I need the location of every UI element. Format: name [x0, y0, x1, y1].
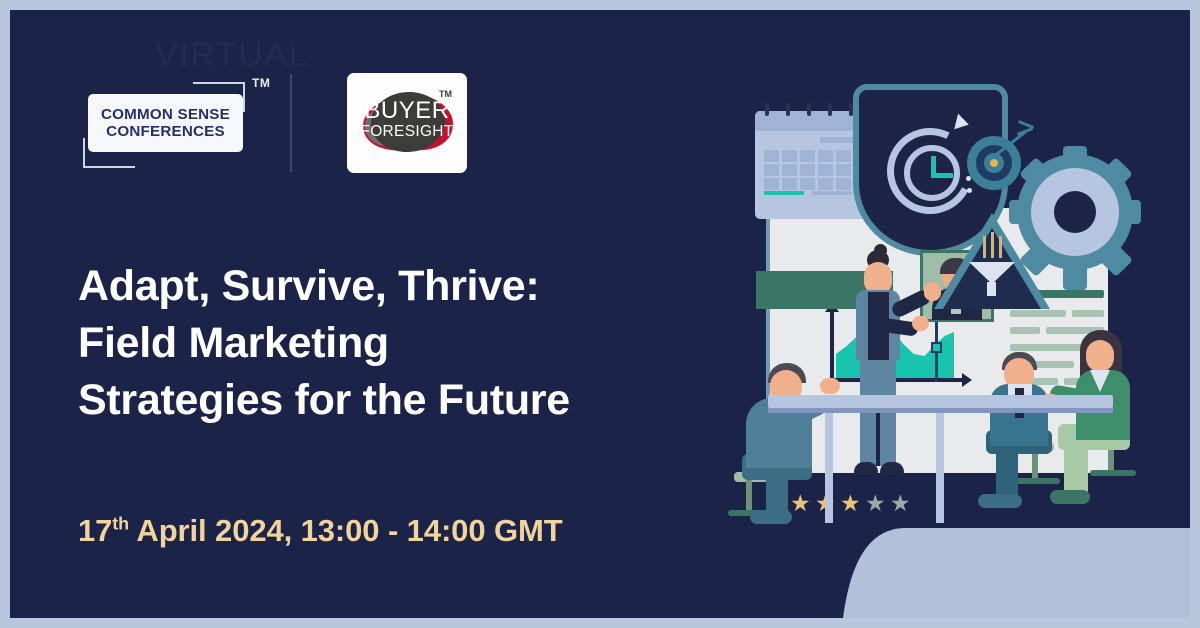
banner-stage: COMMON SENSE CONFERENCES TM BUYER FORESI… [10, 10, 1190, 618]
headline-line-3: Strategies for the Future [78, 372, 718, 429]
calendar-cell [800, 164, 815, 176]
clock-ring-dot [967, 188, 972, 193]
logo-word-foresight: FORESIGHT [347, 124, 467, 140]
event-day-ordinal: th [112, 514, 129, 534]
presenter-shoe-right [880, 462, 904, 475]
presenter-shoe-left [854, 462, 878, 475]
event-datetime-rest: April 2024, 13:00 - 14:00 GMT [129, 513, 562, 548]
chart-y-axis [830, 310, 834, 382]
calendar-cell [782, 164, 797, 176]
webinar-banner: COMMON SENSE CONFERENCES TM BUYER FORESI… [0, 0, 1200, 628]
calendar-cell [764, 164, 779, 176]
gear-center-hole [1054, 191, 1096, 233]
document-line [1072, 310, 1104, 317]
logo-wordmark: BUYER FORESIGHT [347, 99, 467, 140]
chart-x-axis-arrow [962, 373, 972, 387]
logo-word-buyer: BUYER [347, 99, 467, 123]
calendar-cell [836, 178, 851, 190]
page-title: Adapt, Survive, Thrive: Field Marketing … [78, 258, 718, 428]
funnel-stem [987, 282, 996, 296]
buyer-foresight-logo[interactable]: BUYER FORESIGHT TM [347, 73, 467, 173]
chair-stem-left [746, 478, 752, 514]
logo-line-1: COMMON SENSE [101, 106, 230, 123]
calendar-ring [786, 103, 790, 116]
calendar-ring [765, 103, 769, 116]
calendar-cell [836, 150, 851, 162]
conference-table [768, 395, 1113, 408]
calendar-ring [828, 103, 832, 116]
presenter-hand-lower [912, 316, 929, 331]
calendar-cell [782, 150, 797, 162]
document-line [1010, 310, 1066, 317]
status-badge [843, 528, 1190, 618]
status-badge-label: VIRTUAL [155, 10, 309, 100]
trademark-symbol-secondary: TM [439, 89, 452, 99]
calendar-cell [818, 150, 833, 162]
calendar-cell [800, 178, 815, 190]
table-edge [768, 408, 1113, 413]
table-leg-left [825, 413, 833, 523]
clock-hand-minute [931, 173, 953, 178]
calendar-cell [800, 150, 815, 162]
headline-line-1: Adapt, Survive, Thrive: [78, 258, 718, 315]
funnel-icon [969, 262, 1015, 284]
seated-right-head [1086, 340, 1114, 372]
chair-base-center [1014, 478, 1060, 484]
seated-center-shoe [978, 494, 1022, 508]
presenter-hair-bun-top [874, 244, 887, 257]
calendar-cell [782, 178, 797, 190]
funnel-flow-line [983, 236, 986, 258]
document-line [1010, 327, 1040, 334]
calendar-cell [818, 164, 833, 176]
event-day: 17 [78, 513, 112, 548]
star-icon-empty: ★ [865, 492, 886, 515]
table-leg-right [936, 413, 944, 523]
calendar-highlight-bar [764, 191, 804, 195]
event-datetime: 17th April 2024, 13:00 - 14:00 GMT [78, 513, 563, 549]
chart-x-axis [828, 378, 964, 382]
seated-left-pointing-hand [820, 378, 840, 394]
star-icon-filled: ★ [840, 492, 861, 515]
calendar-cell [764, 150, 779, 162]
logo-line-2: CONFERENCES [106, 123, 225, 140]
calendar-ring [807, 103, 811, 116]
chair-base-right [1090, 470, 1136, 476]
calendar-cell [836, 164, 851, 176]
presenter-hand-raised [924, 282, 941, 301]
calendar-cell [818, 178, 833, 190]
business-meeting-illustration: ★ ★ ★ ★ ★ [728, 58, 1180, 528]
calendar-muted-bar [812, 191, 852, 195]
star-icon-filled: ★ [790, 492, 811, 515]
chart-marker-dot-2 [931, 342, 942, 353]
seated-right-shoe [1050, 490, 1090, 504]
seated-left-shoe [750, 510, 792, 524]
star-icon-empty: ★ [890, 492, 911, 515]
logo-plate: COMMON SENSE CONFERENCES [88, 94, 243, 152]
funnel-flow-line [991, 232, 994, 258]
headline-line-2: Field Marketing [78, 315, 718, 372]
arrow-icon-fletch [1017, 127, 1033, 135]
funnel-flow-line [999, 236, 1002, 258]
calendar-cell [764, 178, 779, 190]
